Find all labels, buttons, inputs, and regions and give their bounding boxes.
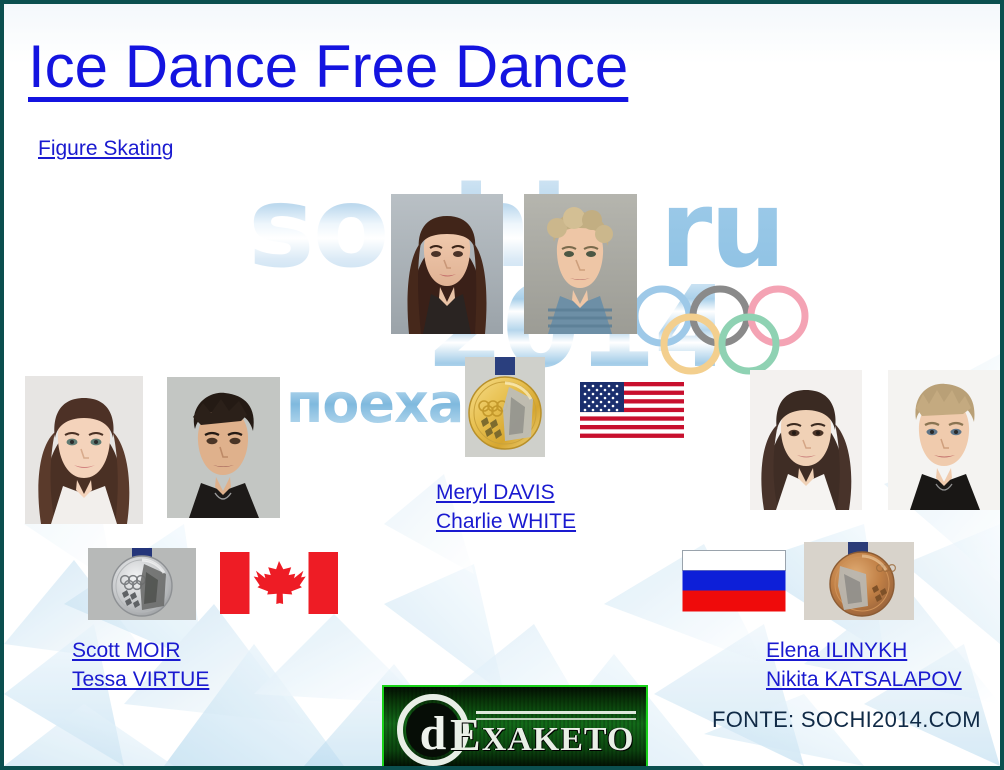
canada-flag-icon xyxy=(220,552,338,614)
athlete-name: Tessa VIRTUE xyxy=(72,665,209,694)
wordmark-cap: E xyxy=(450,709,482,760)
bronze-medalists-caption: Elena ILINYKH Nikita KATSALAPOV xyxy=(766,636,962,694)
svg-text:d: d xyxy=(420,707,447,760)
scott-moir-photo xyxy=(167,377,280,518)
emblem-word-domain: ru xyxy=(660,180,784,280)
page-title: Ice Dance Free Dance xyxy=(28,36,628,98)
russia-flag-icon xyxy=(682,550,786,612)
meryl-davis-photo xyxy=(391,194,503,334)
page-subtitle: Figure Skating xyxy=(38,137,173,161)
athlete-name: Nikita KATSALAPOV xyxy=(766,665,962,694)
silver-medal-icon xyxy=(88,548,196,620)
gold-medalists-caption: Meryl DAVIS Charlie WHITE xyxy=(436,478,576,536)
gold-medal-icon xyxy=(465,357,545,457)
silver-medalists-caption: Scott MOIR Tessa VIRTUE xyxy=(72,636,209,694)
nikita-katsalapov-photo xyxy=(888,370,1000,510)
athlete-name: Meryl DAVIS xyxy=(436,478,576,507)
athlete-name: Scott MOIR xyxy=(72,636,209,665)
olympic-rings-icon xyxy=(630,282,810,378)
source-label: FONTE: SOCHI2014.COM xyxy=(712,707,981,733)
dexaketo-logo[interactable]: d EXAKETO xyxy=(382,685,648,770)
elena-ilinykh-photo xyxy=(750,370,862,510)
dexaketo-wordmark: EXAKETO xyxy=(450,711,634,764)
usa-flag-icon xyxy=(580,382,684,438)
athlete-name: Elena ILINYKH xyxy=(766,636,962,665)
tessa-virtue-photo xyxy=(25,376,143,524)
slide-canvas: sochi 2014 ru поехали Ice Dance Free Dan… xyxy=(0,0,1004,770)
charlie-white-photo xyxy=(524,194,637,334)
athlete-name: Charlie WHITE xyxy=(436,507,576,536)
wordmark-rest: XAKETO xyxy=(482,721,635,758)
bronze-medal-icon xyxy=(804,542,914,620)
